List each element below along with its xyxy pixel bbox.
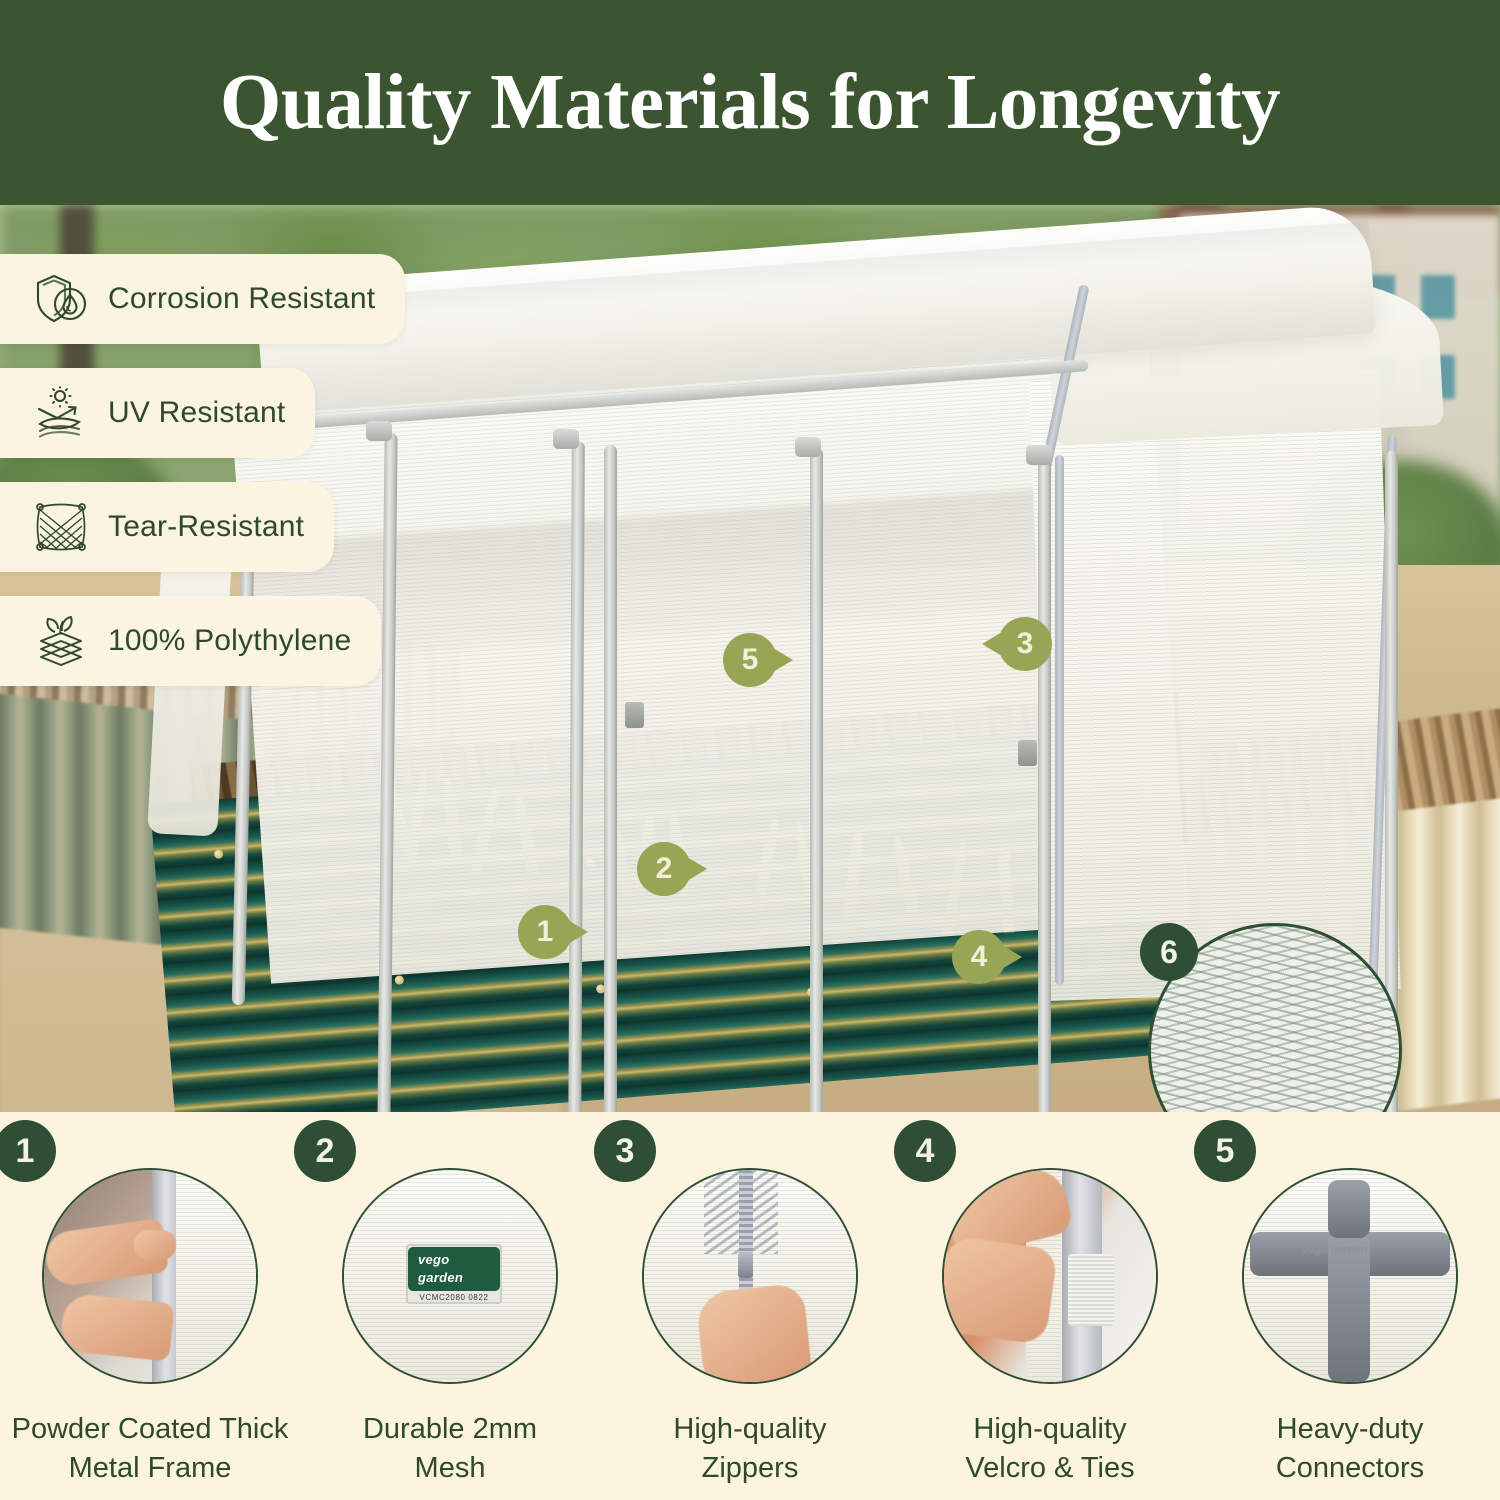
- caption-line-1: High-quality: [965, 1410, 1134, 1449]
- mesh-texture: [1029, 369, 1400, 1001]
- feature-badge-uv-resistant[interactable]: UV Resistant: [0, 368, 315, 458]
- photo-pin-2[interactable]: 2: [637, 842, 691, 896]
- pin-number: 2: [656, 852, 673, 886]
- detail-photo-5: vego garden: [1242, 1168, 1458, 1384]
- feature-badge-label: Corrosion Resistant: [108, 281, 379, 318]
- pin-number: 5: [742, 643, 759, 677]
- footer-item-connectors[interactable]: vego garden 5 Heavy-duty Connectors: [1200, 1112, 1500, 1500]
- footer-badge-4: 4: [894, 1120, 956, 1182]
- pin-number: 1: [537, 915, 554, 949]
- caption-line-2: Connectors: [1276, 1449, 1424, 1488]
- photo-pin-6[interactable]: 6: [1140, 923, 1198, 981]
- pin-number: 3: [1017, 627, 1034, 661]
- caption-line-2: Velcro & Ties: [965, 1449, 1134, 1488]
- feature-badge-polythylene[interactable]: 100% Polythylene: [0, 596, 381, 686]
- fabric-clip: [1018, 740, 1037, 766]
- feature-badge-label: 100% Polythylene: [108, 623, 355, 660]
- frame-pole: [604, 445, 617, 1112]
- frame-joint: [553, 429, 579, 449]
- footer-item-durable-mesh[interactable]: vego garden VCMC2080 0822 2 Durable 2mm …: [300, 1112, 600, 1500]
- footer-item-velcro-ties[interactable]: 4 High-quality Velcro & Ties: [900, 1112, 1200, 1500]
- house-window: [1421, 275, 1455, 319]
- feature-badge-tear-resistant[interactable]: Tear-Resistant: [0, 482, 334, 572]
- mesh-fabric: [176, 1168, 258, 1384]
- frame-pole: [1038, 457, 1051, 1112]
- finger: [134, 1230, 176, 1260]
- badge-number: 3: [616, 1132, 635, 1171]
- connector-top-arm: [1328, 1180, 1370, 1238]
- zipper-pull: [738, 1252, 753, 1278]
- caption-line-2: Mesh: [363, 1449, 537, 1488]
- shield-droplet-icon: [26, 268, 96, 330]
- greenhouse-end-panel: [1029, 369, 1400, 1001]
- footer-caption-4: High-quality Velcro & Ties: [965, 1410, 1134, 1488]
- footer-detail-section: 1 Powder Coated Thick Metal Frame vego g…: [0, 1112, 1500, 1500]
- brand-name: vego garden: [418, 1252, 463, 1285]
- photo-pin-3[interactable]: 3: [998, 617, 1052, 671]
- page-title: Quality Materials for Longevity: [220, 63, 1280, 142]
- brand-code: VCMC2080 0822: [419, 1293, 488, 1302]
- caption-line-2: Zippers: [673, 1449, 826, 1488]
- footer-badge-2: 2: [294, 1120, 356, 1182]
- caption-line-2: Metal Frame: [12, 1449, 289, 1488]
- frame-joint: [795, 437, 821, 457]
- footer-item-grid: 1 Powder Coated Thick Metal Frame vego g…: [0, 1112, 1500, 1500]
- photo-pin-1[interactable]: 1: [518, 905, 572, 959]
- photo-pin-4[interactable]: 4: [952, 930, 1006, 984]
- photo-pin-5[interactable]: 5: [723, 633, 777, 687]
- footer-badge-5: 5: [1194, 1120, 1256, 1182]
- brand-logo-box: vego garden: [408, 1247, 500, 1291]
- panel-zipper: [1055, 455, 1064, 985]
- header-banner: Quality Materials for Longevity: [0, 0, 1500, 205]
- pin-number: 4: [971, 940, 988, 974]
- layered-leaf-icon: [26, 610, 96, 672]
- feature-badge-label: Tear-Resistant: [108, 509, 308, 546]
- sun-uv-layer-icon: [26, 382, 96, 444]
- brand-tag: vego garden VCMC2080 0822: [406, 1244, 502, 1304]
- detail-photo-3: [642, 1168, 858, 1384]
- badge-number: 4: [916, 1132, 935, 1171]
- caption-line-1: High-quality: [673, 1410, 826, 1449]
- footer-badge-3: 3: [594, 1120, 656, 1182]
- detail-photo-2: vego garden VCMC2080 0822: [342, 1168, 558, 1384]
- footer-caption-2: Durable 2mm Mesh: [363, 1410, 537, 1488]
- caption-line-1: Powder Coated Thick: [12, 1410, 289, 1449]
- detail-photo-4: [942, 1168, 1158, 1384]
- fabric-clip: [625, 702, 644, 728]
- hand: [942, 1235, 1058, 1346]
- badge-number: 1: [16, 1132, 35, 1171]
- feature-badge-label: UV Resistant: [108, 395, 289, 432]
- frame-pole: [810, 448, 823, 1112]
- detail-photo-1: [42, 1168, 258, 1384]
- footer-item-powder-coated-frame[interactable]: 1 Powder Coated Thick Metal Frame: [0, 1112, 300, 1500]
- footer-caption-3: High-quality Zippers: [673, 1410, 826, 1488]
- feature-badge-list: Corrosion Resistant UV Resistant: [0, 254, 420, 710]
- infographic-page: Quality Materials for Longevity: [0, 0, 1500, 1500]
- footer-item-zippers[interactable]: 3 High-quality Zippers: [600, 1112, 900, 1500]
- hand: [695, 1283, 813, 1384]
- frame-joint: [1026, 445, 1052, 465]
- pin-number: 6: [1160, 934, 1178, 971]
- velcro-strap: [1068, 1254, 1114, 1326]
- badge-number: 5: [1216, 1132, 1235, 1171]
- connector-brand-label: vego garden: [1302, 1244, 1367, 1256]
- footer-caption-1: Powder Coated Thick Metal Frame: [12, 1410, 289, 1488]
- main-product-photo: 1 2 3 4 5 6 0.04" x 0.1" Cross-Woven ilr…: [0, 205, 1500, 1112]
- footer-caption-5: Heavy-duty Connectors: [1276, 1410, 1424, 1488]
- mesh-net-icon: [26, 496, 96, 558]
- badge-number: 2: [316, 1132, 335, 1171]
- feature-badge-corrosion-resistant[interactable]: Corrosion Resistant: [0, 254, 405, 344]
- caption-line-1: Heavy-duty: [1276, 1410, 1424, 1449]
- caption-line-1: Durable 2mm: [363, 1410, 537, 1449]
